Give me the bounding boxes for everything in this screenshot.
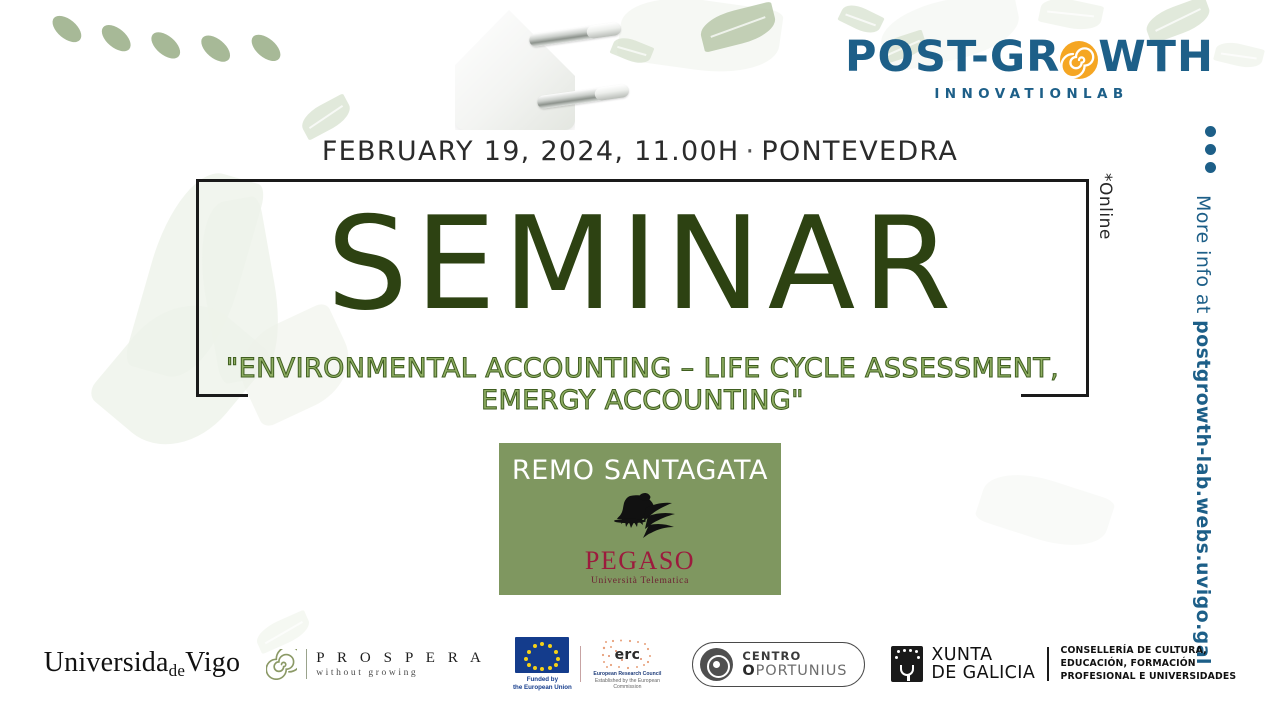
galicia-coat-of-arms-icon xyxy=(891,646,923,682)
eu-funding-logo: Funded by the European Union xyxy=(511,637,666,692)
dot-icon xyxy=(1205,162,1216,173)
erc-caption: European Research Council Established by… xyxy=(588,671,666,692)
sponsor-logo-bar: UniversidadeVigo P R O S P E R A without… xyxy=(0,637,1280,692)
event-date-location: FEBRUARY 19, 2024, 11.00H·PONTEVEDRA xyxy=(0,136,1280,167)
eu-caption: Funded by the European Union xyxy=(511,676,573,692)
xunta-line2: DE GALICIA xyxy=(931,664,1035,683)
page-title: SEMINAR xyxy=(196,201,1089,329)
oportunius-logo: CENTRO OPORTUNIUS xyxy=(692,642,865,687)
divider xyxy=(1047,647,1048,681)
dot-icon xyxy=(1205,126,1216,137)
separator: · xyxy=(740,136,762,167)
frame-edge-top xyxy=(196,179,1089,182)
dot-icon xyxy=(1205,144,1216,155)
online-note: *Online xyxy=(1095,173,1115,240)
post-growth-wordmark: POST-GR WTH xyxy=(845,36,1214,79)
oportunius-line2: OPORTUNIUS xyxy=(742,663,847,679)
uvigo-de: de xyxy=(169,661,185,680)
xunta-logo: XUNTA DE GALICIA CONSELLERÍA DE CULTURA,… xyxy=(891,645,1236,683)
erc-dots-icon: erc xyxy=(600,638,654,670)
speaker-name: REMO SANTAGATA xyxy=(512,457,768,484)
spiral-icon xyxy=(266,649,297,680)
pegaso-tagline: Università Telematica xyxy=(585,576,695,586)
plug-prong xyxy=(529,22,622,48)
spiral-icon xyxy=(1059,40,1099,80)
floating-leaf-icon xyxy=(1213,39,1265,72)
more-info-rail: More info at postgrowth-lab.webs.uvigo.g… xyxy=(1192,126,1228,665)
prospera-tagline: without growing xyxy=(316,668,485,680)
dots-decoration xyxy=(1192,126,1228,173)
floating-leaf-icon xyxy=(697,1,779,52)
prospera-logo: P R O S P E R A without growing xyxy=(266,649,485,680)
power-plug-illustration xyxy=(455,0,645,144)
post-growth-logo: POST-GR WTH INNOVATIONLAB xyxy=(845,36,1214,102)
website-url[interactable]: postgrowth-lab.webs.uvigo.gal xyxy=(1192,320,1214,665)
uvigo-part2: Vigo xyxy=(185,647,240,678)
conselleria-text: CONSELLERÍA DE CULTURA, EDUCACIÓN, FORMA… xyxy=(1061,645,1237,683)
divider xyxy=(306,649,307,679)
foliage-cluster xyxy=(0,0,390,20)
pegaso-logo: PEGASO Università Telematica xyxy=(585,490,695,586)
oportunius-line1: CENTRO xyxy=(742,650,847,663)
plug-body xyxy=(455,10,575,130)
floating-leaf-icon xyxy=(1038,0,1104,34)
pegasus-icon xyxy=(586,529,694,546)
xunta-line1: XUNTA xyxy=(931,646,1035,665)
uvigo-part1: Universida xyxy=(44,647,169,678)
speaker-card: REMO SANTAGATA PEGASO Università Telemat… xyxy=(499,443,781,595)
eu-flag-icon xyxy=(515,637,569,673)
uvigo-logo: UniversidadeVigo xyxy=(44,647,240,681)
erc-logo: erc European Research Council Establishe… xyxy=(588,638,666,692)
floating-leaf-icon xyxy=(297,93,355,140)
more-info-prefix: More info at xyxy=(1192,195,1214,320)
event-city: PONTEVEDRA xyxy=(761,136,958,167)
prospera-name: P R O S P E R A xyxy=(316,649,485,668)
erc-wordmark: erc xyxy=(600,647,654,663)
post-growth-subtitle: INNOVATIONLAB xyxy=(845,86,1214,102)
pegaso-wordmark: PEGASO xyxy=(585,548,695,574)
target-icon xyxy=(700,648,733,681)
divider xyxy=(580,646,581,682)
logo-text-right: WTH xyxy=(1098,36,1214,79)
logo-text-left: POST-GR xyxy=(845,36,1060,79)
leaf-wash xyxy=(974,461,1116,558)
seminar-subtitle: "ENVIRONMENTAL ACCOUNTING – LIFE CYCLE A… xyxy=(196,353,1089,417)
event-date: FEBRUARY 19, 2024, 11.00H xyxy=(322,136,740,167)
more-info-text[interactable]: More info at postgrowth-lab.webs.uvigo.g… xyxy=(1192,195,1214,665)
